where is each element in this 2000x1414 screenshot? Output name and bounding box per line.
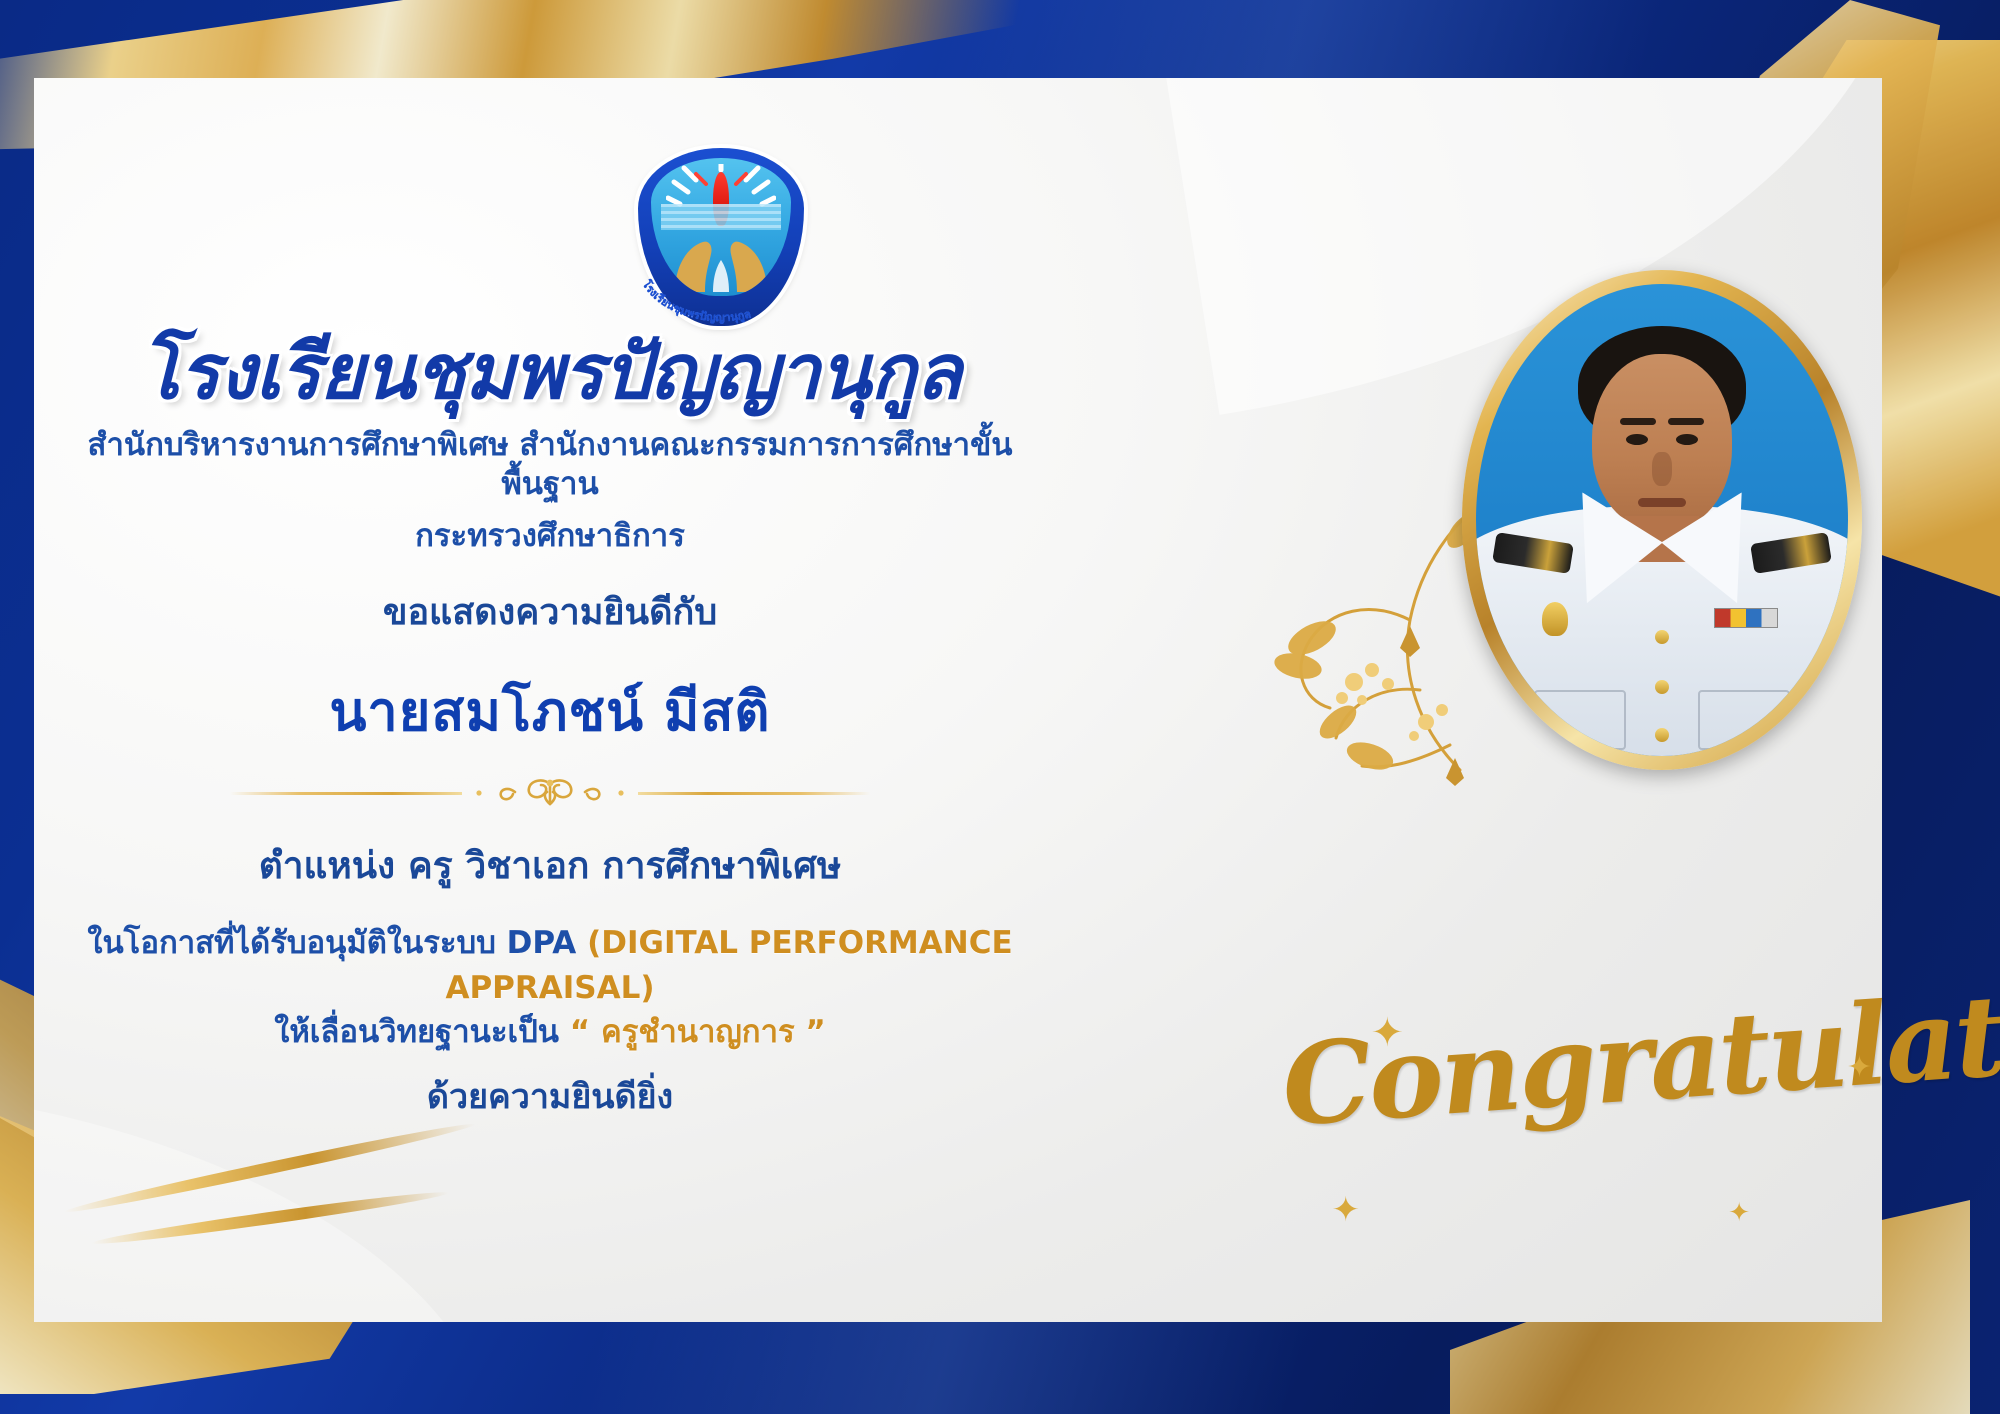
portrait-button-3 [1655, 728, 1669, 742]
portrait-brow-left [1620, 418, 1656, 425]
emblem-ring-text: โรงเรียนชุมพรปัญญานุกูล [632, 262, 810, 332]
svg-text:โรงเรียนชุมพรปัญญานุกูล: โรงเรียนชุมพรปัญญานุกูล [639, 277, 752, 325]
portrait-button-1 [1655, 630, 1669, 644]
portrait-gold-frame [1462, 270, 1862, 770]
certificate-canvas: โรงเรียนชุมพรปัญญานุกูล โรงเรียนชุมพรปัญ… [0, 0, 2000, 1414]
portrait-button-2 [1655, 680, 1669, 694]
org-line-2: กระทรวงศึกษาธิการ [70, 517, 1030, 557]
portrait-pocket-right [1698, 690, 1790, 750]
divider-flourish-icon [455, 776, 645, 810]
certificate-text-block: โรงเรียนชุมพรปัญญานุกูล สำนักบริหารงานกา… [70, 330, 1030, 1123]
divider-bar-left [230, 792, 462, 795]
promotion-prefix: ให้เลื่อนวิทยฐานะเป็น [274, 1014, 559, 1050]
portrait-badge-icon [1542, 602, 1568, 636]
school-name: โรงเรียนชุมพรปัญญานุกูล [70, 330, 1030, 414]
sparkle-icon-2: ✦ [1847, 1050, 1872, 1085]
portrait-nose [1652, 452, 1672, 486]
sparkle-icon-3: ✦ [1332, 1190, 1361, 1230]
org-line-1: สำนักบริหารงานการศึกษาพิเศษ สำนักงานคณะก… [70, 426, 1030, 505]
school-emblem: โรงเรียนชุมพรปัญญานุกูล [638, 148, 804, 326]
closing-line: ด้วยความยินดียิ่ง [70, 1069, 1030, 1123]
portrait-mouth [1638, 498, 1686, 507]
portrait-eye-left [1626, 434, 1648, 445]
occasion-block: ในโอกาสที่ได้รับอนุมัติในระบบ DPA (DIGIT… [70, 921, 1030, 1056]
portrait-service-ribbons [1714, 608, 1778, 628]
sparkle-icon-1: ✦ [1370, 1010, 1404, 1056]
emblem-ring-label: โรงเรียนชุมพรปัญญานุกูล [639, 277, 752, 325]
emblem-water [661, 204, 781, 230]
portrait-pocket-left [1534, 690, 1626, 750]
sparkle-icon-4: ✦ [1728, 1198, 1750, 1228]
divider-bar-right [638, 792, 870, 795]
portrait-eye-right [1676, 434, 1698, 445]
honoree-portrait [1462, 270, 1862, 770]
gold-divider [230, 776, 870, 810]
portrait-face [1592, 354, 1732, 530]
promotion-rank: “ ครูชำนาญการ ” [570, 1014, 826, 1050]
position-line: ตำแหน่ง ครู วิชาเอก การศึกษาพิเศษ [70, 836, 1030, 895]
honoree-name: นายสมโภชน์ มีสติ [70, 668, 1030, 754]
congratulation-intro: ขอแสดงความยินดีกับ [70, 583, 1030, 640]
portrait-photo [1476, 284, 1848, 756]
occasion-line-thai: ในโอกาสที่ได้รับอนุมัติในระบบ DPA [87, 925, 576, 961]
portrait-brow-right [1668, 418, 1704, 425]
